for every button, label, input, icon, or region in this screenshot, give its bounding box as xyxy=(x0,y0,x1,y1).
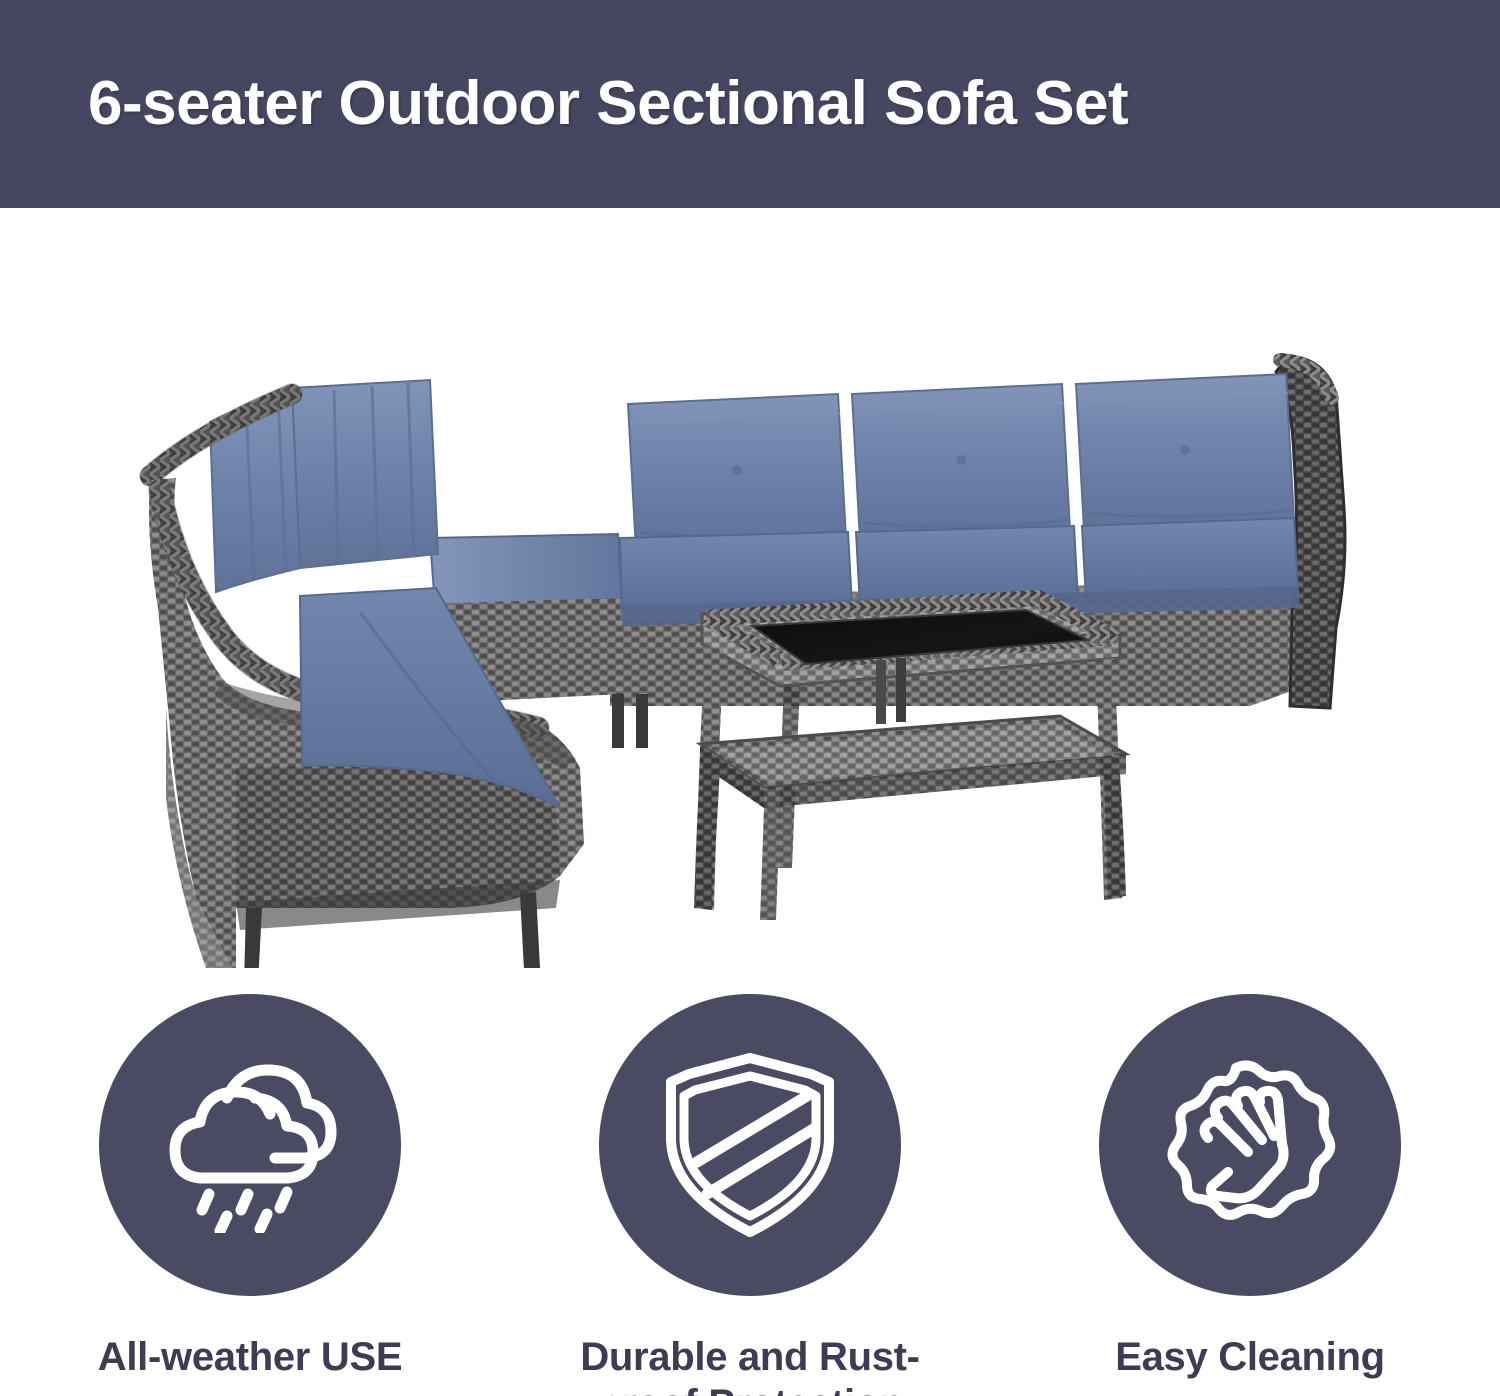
shield-icon xyxy=(661,1052,839,1238)
rain-cloud-icon xyxy=(155,1058,345,1233)
infographic-page: 6-seater Outdoor Sectional Sofa Set xyxy=(0,0,1500,1396)
feature-rust-proof: Durable and Rust-proof Protection xyxy=(500,968,1000,1396)
cleaning-cloth-hand-icon xyxy=(1162,1060,1338,1230)
feature-all-weather: All-weather USE xyxy=(0,968,500,1381)
feature-icon-circle xyxy=(599,994,901,1296)
glass-top-coffee-table xyxy=(694,594,1126,920)
feature-label: All-weather USE xyxy=(98,1334,402,1381)
feature-row: All-weather USE Durable and Rust-proof P… xyxy=(0,968,1500,1396)
product-hero-image xyxy=(0,208,1500,968)
header-banner: 6-seater Outdoor Sectional Sofa Set xyxy=(0,0,1500,208)
feature-icon-circle xyxy=(99,994,401,1296)
feature-easy-cleaning: Easy Cleaning xyxy=(1000,968,1500,1381)
feature-icon-circle xyxy=(1099,994,1401,1296)
page-title: 6-seater Outdoor Sectional Sofa Set xyxy=(88,73,1128,135)
feature-label: Durable and Rust-proof Protection xyxy=(540,1334,960,1396)
sectional-sofa-illustration xyxy=(0,208,1500,968)
feature-label: Easy Cleaning xyxy=(1115,1334,1385,1381)
